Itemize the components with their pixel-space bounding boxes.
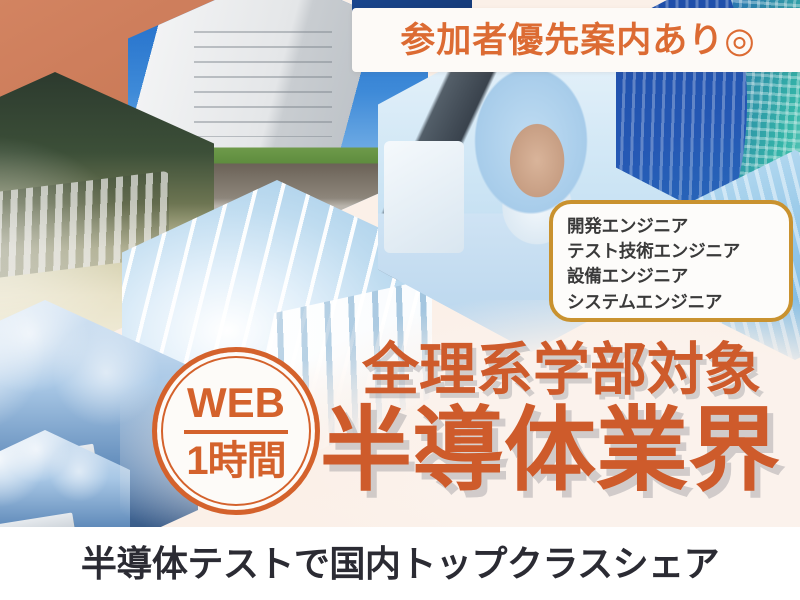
web-badge-duration-label: 1時間	[186, 434, 285, 481]
bottom-tagline-text: 半導体テストで国内トップクラスシェア	[81, 546, 719, 582]
role-item-development: 開発エンジニア	[567, 214, 789, 239]
headline-target-audience: 全理系学部対象	[362, 342, 761, 399]
engineer-roles-box: 開発エンジニア テスト技術エンジニア 設備エンジニア システムエンジニア	[549, 200, 793, 322]
role-item-system: システムエンジニア	[567, 290, 789, 315]
priority-invitation-banner: 参加者優先案内あり◎	[352, 8, 800, 72]
role-item-test-technology: テスト技術エンジニア	[567, 239, 789, 264]
bottom-tagline-bar: 半導体テストで国内トップクラスシェア	[0, 527, 800, 600]
web-badge-format-label: WEB	[187, 382, 285, 430]
role-item-equipment: 設備エンジニア	[567, 264, 789, 289]
web-duration-badge: WEB 1時間	[152, 347, 320, 515]
recruitment-poster: 参加者優先案内あり◎ 開発エンジニア テスト技術エンジニア 設備エンジニア シス…	[0, 0, 800, 600]
headline-industry: 半導体業界	[320, 405, 780, 497]
priority-invitation-text: 参加者優先案内あり◎	[400, 23, 756, 58]
